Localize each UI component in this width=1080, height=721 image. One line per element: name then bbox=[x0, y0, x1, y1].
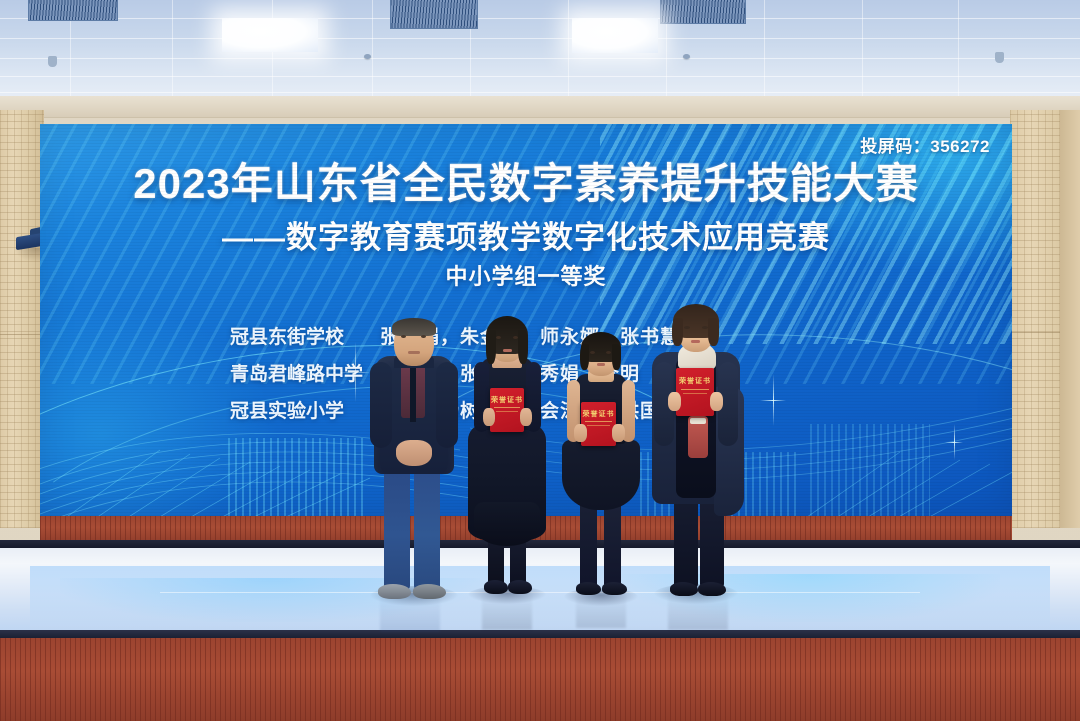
stage-skirt-panel bbox=[0, 638, 1080, 721]
hair bbox=[392, 318, 436, 336]
winner-school: 冠县东街学校 bbox=[230, 322, 380, 349]
screen-skyline-graphic bbox=[810, 424, 930, 516]
honor-certificate[interactable]: 荣誉证书 bbox=[490, 388, 524, 432]
ceiling-speaker-icon bbox=[48, 56, 57, 67]
ceiling-air-vent bbox=[390, 0, 478, 29]
floor-reflection bbox=[576, 592, 626, 628]
screen-title-subtitle: ——数字教育赛项教学数字化技术应用竞赛 bbox=[40, 212, 1012, 257]
wall-panel-left bbox=[0, 110, 44, 528]
winner-school: 青岛君峰路中学 bbox=[230, 359, 380, 386]
auditorium-scene: 投屏码：356272 2023年山东省全民数字素养提升技能大赛 ——数字教育赛项… bbox=[0, 0, 1080, 721]
certificate-title: 荣誉证书 bbox=[490, 395, 524, 405]
ceiling-air-vent bbox=[28, 0, 118, 21]
screen-skyline-graphic bbox=[228, 438, 368, 516]
clasped-hands bbox=[396, 440, 432, 466]
ceiling-air-vent bbox=[660, 0, 746, 24]
ceiling-light-panel bbox=[572, 18, 658, 53]
person-woman-4: 荣誉证书 bbox=[648, 306, 744, 618]
wall-panel-right-edge bbox=[1060, 110, 1080, 528]
wall-cornice bbox=[0, 96, 1080, 118]
person-woman-3: 荣誉证书 bbox=[560, 332, 642, 620]
screen-title-main: 2023年山东省全民数字素养提升技能大赛 bbox=[40, 150, 1012, 211]
honor-certificate[interactable]: 荣誉证书 bbox=[676, 368, 714, 416]
smoke-detector-icon bbox=[683, 54, 690, 59]
winner-school: 冠县实验小学 bbox=[230, 396, 380, 423]
smoke-detector-icon bbox=[364, 54, 371, 59]
honor-certificate[interactable]: 荣誉证书 bbox=[581, 402, 616, 446]
ceiling bbox=[0, 0, 1080, 100]
floor-reflection bbox=[668, 592, 728, 630]
person-man-left bbox=[368, 318, 460, 618]
screen-sparkle-icon bbox=[945, 424, 963, 460]
floor-reflection bbox=[380, 592, 440, 632]
floor-reflection bbox=[482, 592, 532, 630]
screen-award-group-label: 中小学组一等奖 bbox=[40, 259, 1012, 291]
certificate-title: 荣誉证书 bbox=[581, 409, 616, 419]
ceiling-speaker-icon bbox=[995, 52, 1004, 63]
ceiling-light-panel bbox=[222, 18, 318, 52]
certificate-title: 荣誉证书 bbox=[676, 376, 714, 386]
person-woman-2: 荣誉证书 bbox=[464, 316, 550, 616]
